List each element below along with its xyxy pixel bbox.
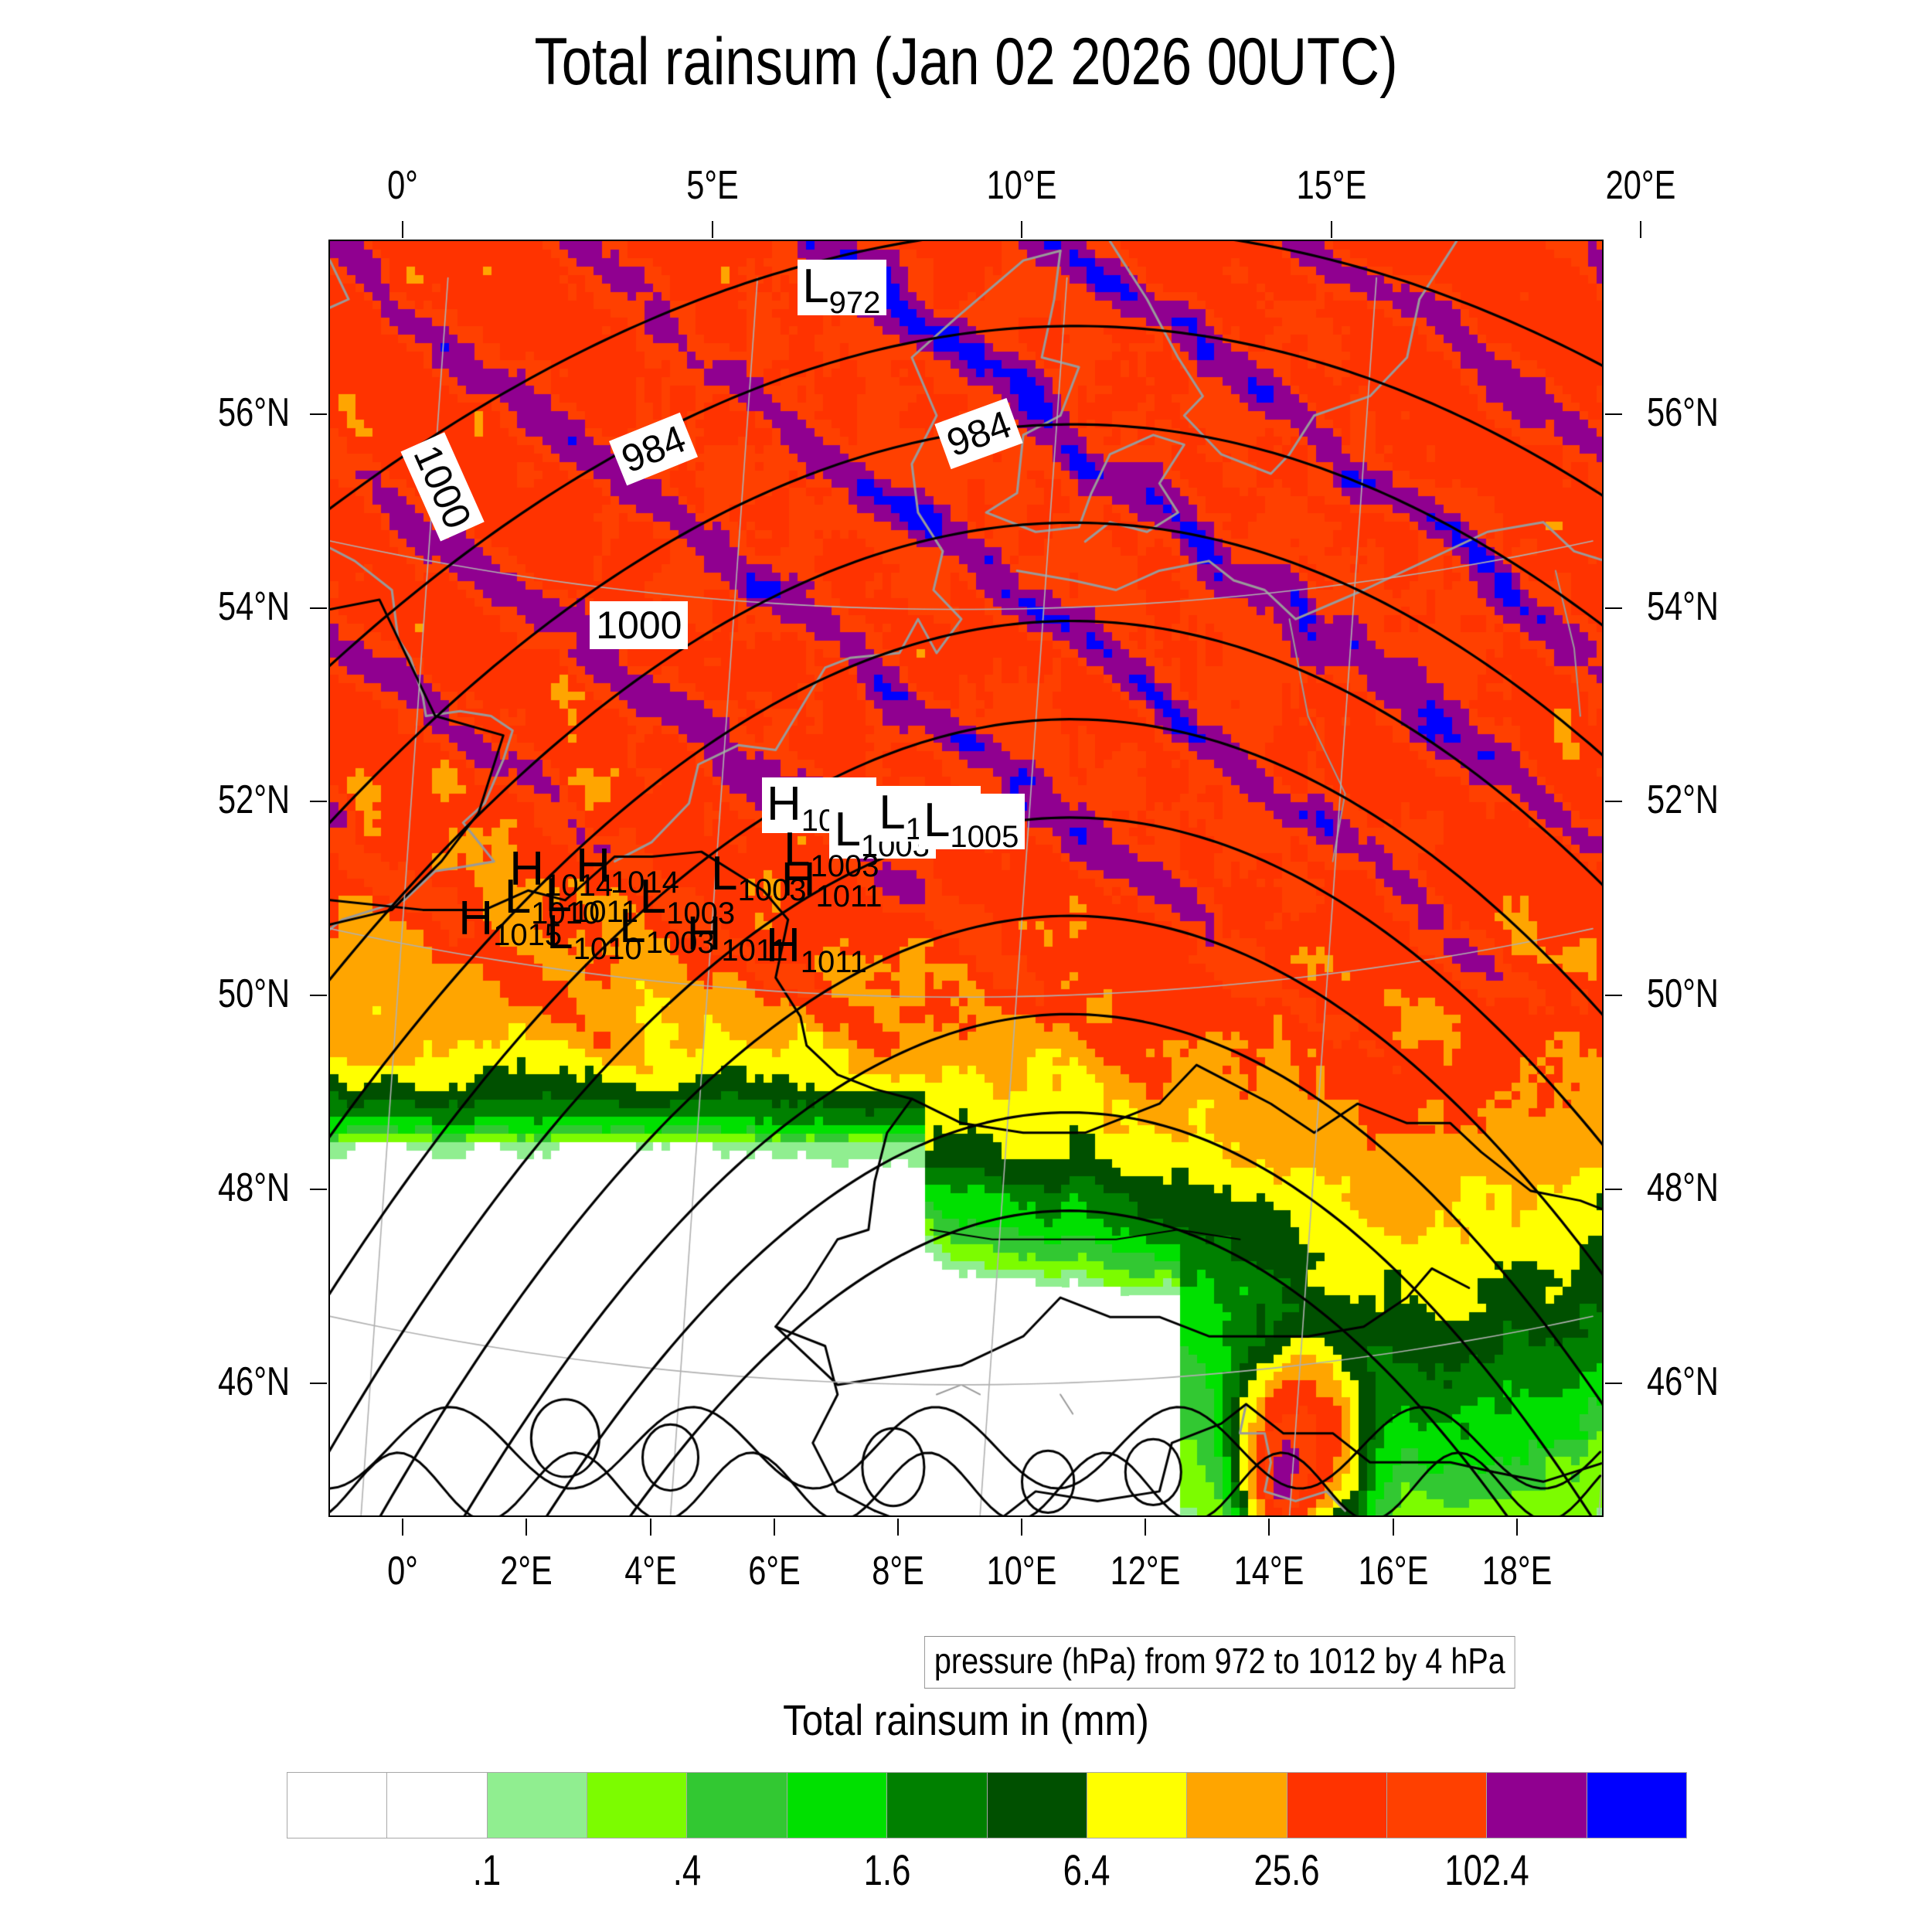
isobar-label-1000-3: 1000 bbox=[590, 601, 688, 649]
axis-label-left-46°N: 46°N bbox=[135, 1362, 290, 1402]
colorbar-cell-10[interactable] bbox=[1287, 1773, 1387, 1838]
colorbar-cell-11[interactable] bbox=[1387, 1773, 1487, 1838]
axis-label-top-5°E: 5°E bbox=[620, 165, 805, 206]
axis-label-top-15°E: 15°E bbox=[1239, 165, 1424, 206]
low-pressure-marker-4: L1005 bbox=[919, 794, 1025, 849]
pressure-type-letter: H bbox=[781, 853, 816, 906]
tick-right-50°N bbox=[1605, 995, 1622, 996]
colorbar-tick-labels: .1.41.66.425.6102.4 bbox=[287, 1847, 1687, 1909]
tick-right-52°N bbox=[1605, 801, 1622, 802]
tick-left-50°N bbox=[310, 995, 327, 996]
axis-label-bottom-18°E: 18°E bbox=[1424, 1551, 1610, 1591]
colorbar-cell-0[interactable] bbox=[287, 1773, 387, 1838]
tick-left-54°N bbox=[310, 607, 327, 609]
colorbar-label-.4: .4 bbox=[672, 1847, 700, 1893]
tick-right-46°N bbox=[1605, 1383, 1622, 1384]
tick-bottom-12°E bbox=[1145, 1519, 1146, 1536]
tick-bottom-8°E bbox=[897, 1519, 899, 1536]
colorbar-cell-6[interactable] bbox=[887, 1773, 987, 1838]
colorbar[interactable] bbox=[287, 1772, 1687, 1838]
tick-bottom-16°E bbox=[1393, 1519, 1394, 1536]
colorbar-cell-1[interactable] bbox=[387, 1773, 487, 1838]
tick-bottom-2°E bbox=[526, 1519, 527, 1536]
high-pressure-marker-16: H1011 bbox=[781, 856, 883, 904]
tick-bottom-0° bbox=[402, 1519, 403, 1536]
axis-label-right-54°N: 54°N bbox=[1647, 587, 1801, 627]
colorbar-cell-8[interactable] bbox=[1087, 1773, 1187, 1838]
colorbar-cell-3[interactable] bbox=[587, 1773, 687, 1838]
tick-bottom-6°E bbox=[774, 1519, 775, 1536]
axis-label-right-48°N: 48°N bbox=[1647, 1168, 1801, 1208]
tick-bottom-4°E bbox=[650, 1519, 651, 1536]
colorbar-title: Total rainsum in (mm) bbox=[116, 1697, 1816, 1743]
axis-label-top-0°: 0° bbox=[310, 165, 495, 206]
tick-top-15°E bbox=[1331, 221, 1332, 238]
colorbar-cell-12[interactable] bbox=[1487, 1773, 1587, 1838]
colorbar-label-102.4: 102.4 bbox=[1444, 1847, 1529, 1893]
axis-label-right-56°N: 56°N bbox=[1647, 393, 1801, 433]
page-title: Total rainsum (Jan 02 2026 00UTC) bbox=[174, 25, 1758, 99]
tick-left-46°N bbox=[310, 1383, 327, 1384]
pressure-contour-note: pressure (hPa) from 972 to 1012 by 4 hPa bbox=[924, 1636, 1515, 1689]
colorbar-cell-2[interactable] bbox=[488, 1773, 587, 1838]
axis-label-left-48°N: 48°N bbox=[135, 1168, 290, 1208]
colorbar-label-25.6: 25.6 bbox=[1254, 1847, 1320, 1893]
pressure-type-letter: L bbox=[802, 260, 828, 313]
pressure-type-letter: L bbox=[619, 900, 645, 953]
axis-label-left-54°N: 54°N bbox=[135, 587, 290, 627]
colorbar-cell-9[interactable] bbox=[1187, 1773, 1287, 1838]
tick-left-56°N bbox=[310, 413, 327, 415]
axis-label-left-56°N: 56°N bbox=[135, 393, 290, 433]
pressure-value: 972 bbox=[829, 286, 881, 320]
axis-label-top-10°E: 10°E bbox=[929, 165, 1114, 206]
axis-label-right-46°N: 46°N bbox=[1647, 1362, 1801, 1402]
tick-right-48°N bbox=[1605, 1189, 1622, 1190]
colorbar-label-6.4: 6.4 bbox=[1063, 1847, 1111, 1893]
colorbar-cell-4[interactable] bbox=[687, 1773, 787, 1838]
tick-top-20°E bbox=[1640, 221, 1641, 238]
colorbar-cell-5[interactable] bbox=[787, 1773, 887, 1838]
pressure-value: 1005 bbox=[950, 820, 1019, 854]
tick-right-56°N bbox=[1605, 413, 1622, 415]
axis-label-left-52°N: 52°N bbox=[135, 780, 290, 820]
tick-bottom-18°E bbox=[1516, 1519, 1518, 1536]
pressure-type-letter: H bbox=[766, 919, 801, 972]
pressure-type-letter: L bbox=[546, 906, 573, 959]
pressure-type-letter: L bbox=[879, 786, 905, 839]
tick-left-48°N bbox=[310, 1189, 327, 1190]
tick-bottom-14°E bbox=[1268, 1519, 1270, 1536]
high-pressure-marker-17: H1011 bbox=[766, 922, 867, 970]
tick-bottom-10°E bbox=[1021, 1519, 1022, 1536]
tick-left-52°N bbox=[310, 801, 327, 802]
colorbar-cell-7[interactable] bbox=[988, 1773, 1087, 1838]
axis-label-top-20°E: 20°E bbox=[1548, 165, 1733, 206]
axis-label-right-52°N: 52°N bbox=[1647, 780, 1801, 820]
pressure-value: 1011 bbox=[816, 879, 883, 913]
low-pressure-marker-0: L972 bbox=[798, 260, 886, 315]
pressure-type-letter: H bbox=[458, 892, 493, 945]
axis-label-left-50°N: 50°N bbox=[135, 974, 290, 1014]
colorbar-label-1.6: 1.6 bbox=[863, 1847, 910, 1893]
colorbar-label-.1: .1 bbox=[473, 1847, 501, 1893]
tick-top-10°E bbox=[1021, 221, 1022, 238]
tick-right-54°N bbox=[1605, 607, 1622, 609]
pressure-type-letter: H bbox=[687, 907, 722, 961]
tick-top-5°E bbox=[712, 221, 713, 238]
pressure-type-letter: L bbox=[923, 794, 950, 847]
colorbar-cell-13[interactable] bbox=[1587, 1773, 1686, 1838]
axis-label-right-50°N: 50°N bbox=[1647, 974, 1801, 1014]
pressure-value: 1011 bbox=[801, 945, 867, 979]
tick-top-0° bbox=[402, 221, 403, 238]
